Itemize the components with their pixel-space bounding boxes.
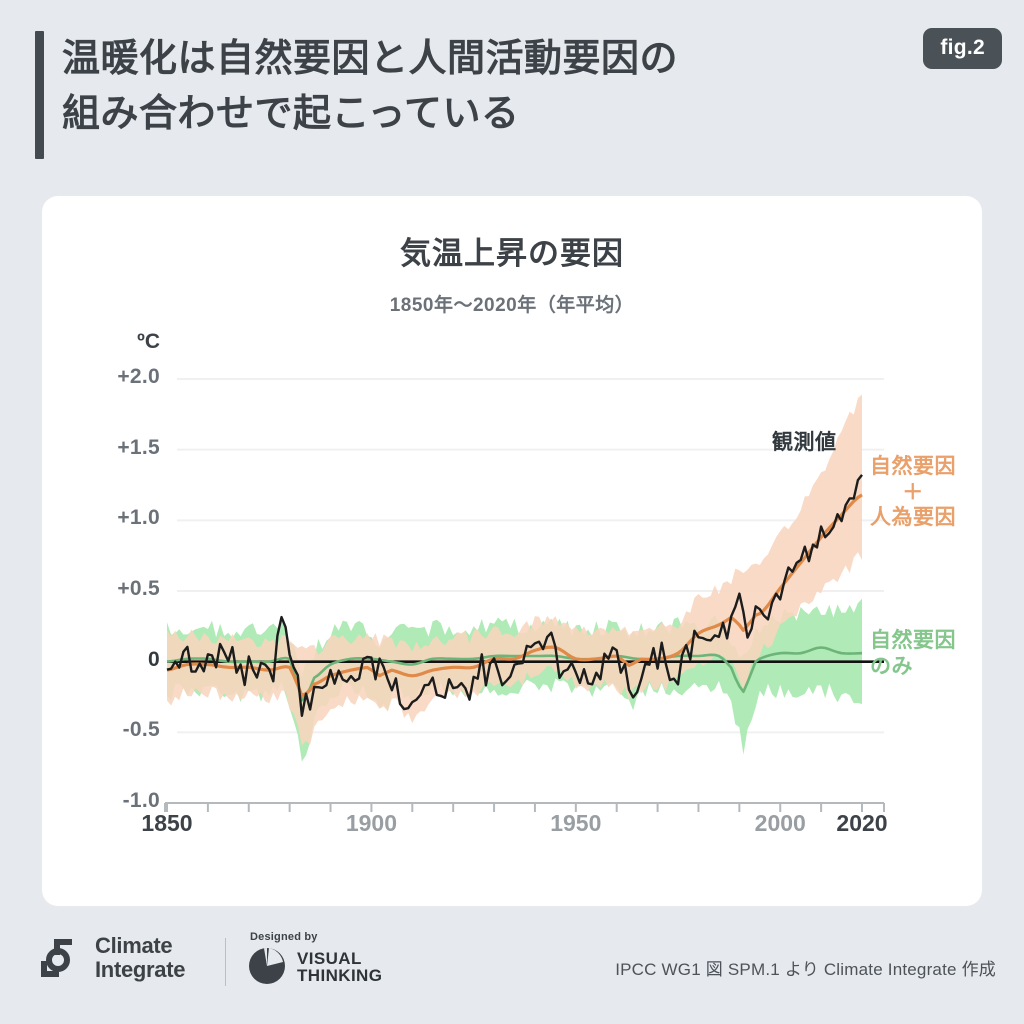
visual-thinking-logo: VISUAL THINKING [245,934,382,988]
x-axis-tick-2020: 2020 [836,810,887,837]
x-axis-tick-1850: 1850 [141,810,192,837]
chart-plot-area: ºC +2.0+1.5+1.0+0.50-0.5-1.0 18501900195… [42,196,982,906]
y-axis-tick--05: -0.5 [74,718,160,742]
x-axis-tick-2000: 2000 [755,810,806,837]
x-axis-tick-1900: 1900 [346,810,397,837]
headline-accent-bar [35,31,44,159]
y-axis-tick-0: 0 [74,648,160,672]
chart-svg [42,196,982,906]
page-title: 温暖化は自然要因と人間活動要因の 組み合わせで起こっている [62,32,842,143]
visual-thinking-wordmark: VISUAL THINKING [297,950,382,984]
series-label-natural-only: 自然要因 のみ [870,628,956,679]
y-axis-tick-20: +2.0 [74,365,160,389]
footer-divider [225,938,226,986]
page-header: 温暖化は自然要因と人間活動要因の 組み合わせで起こっている fig.2 [0,0,1024,185]
y-axis-tick-05: +0.5 [74,577,160,601]
series-label-observed: 観測値 [772,430,837,456]
y-axis-unit-label: ºC [74,330,160,354]
source-credit: IPCC WG1 図 SPM.1 より Climate Integrate 作成 [615,955,996,980]
climate-integrate-logo: Climate Integrate [38,934,185,982]
bracket-circle-icon [38,936,84,980]
pie-chart-icon [245,944,289,988]
series-label-natural-plus-human: 自然要因 ＋ 人為要因 [870,454,956,531]
figure-number-badge: fig.2 [923,28,1002,69]
page-footer: Climate Integrate Designed by VISUAL THI… [0,918,1024,1024]
chart-card: 気温上昇の要因 1850年〜2020年（年平均） ºC +2.0+1.5+1.0… [42,196,982,906]
climate-integrate-wordmark: Climate Integrate [95,934,185,982]
x-axis-tick-1950: 1950 [550,810,601,837]
y-axis-tick-15: +1.5 [74,436,160,460]
y-axis-tick-10: +1.0 [74,506,160,530]
